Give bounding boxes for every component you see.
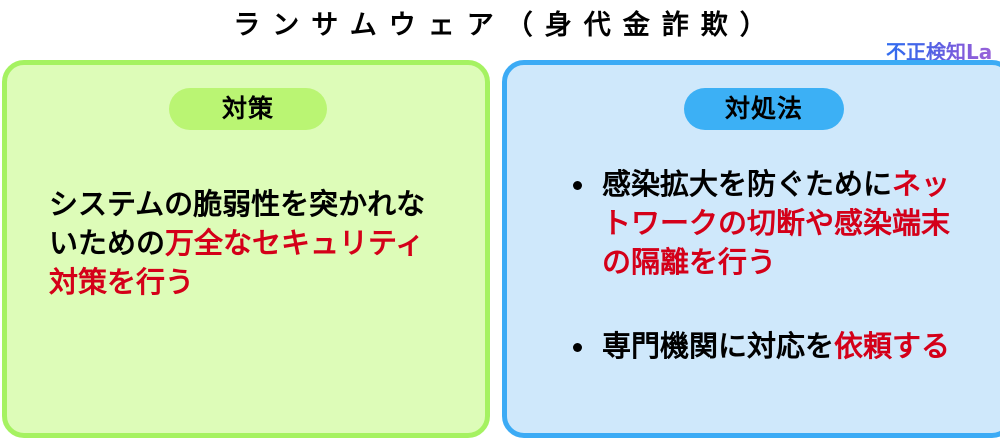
bullet-dot-icon <box>573 343 582 352</box>
bullet-text-normal: 感染拡大を防ぐために <box>602 167 892 201</box>
bullet-text-accent: 依頼する <box>834 329 950 363</box>
bullet-text-normal: 専門機関に対応を <box>602 329 834 363</box>
prevention-paragraph: システムの脆弱性を突かれないための万全なセキュリティ対策を行う <box>49 185 439 302</box>
prevention-badge: 対策 <box>169 88 327 130</box>
prevention-panel: 対策 システムの脆弱性を突かれないための万全なセキュリティ対策を行う <box>2 60 490 438</box>
response-panel: 対処法 感染拡大を防ぐためにネットワークの切断や感染端末の隔離を行う 専門機関に… <box>502 60 1000 438</box>
list-item: 感染拡大を防ぐためにネットワークの切断や感染端末の隔離を行う <box>569 165 959 282</box>
response-bullet-list: 感染拡大を防ぐためにネットワークの切断や感染端末の隔離を行う 専門機関に対応を依… <box>569 165 959 411</box>
list-item: 専門機関に対応を依頼する <box>569 327 959 366</box>
response-badge: 対処法 <box>684 88 844 130</box>
bullet-dot-icon <box>573 181 582 190</box>
page-title: ランサムウェア（身代金詐欺） <box>0 4 1000 48</box>
